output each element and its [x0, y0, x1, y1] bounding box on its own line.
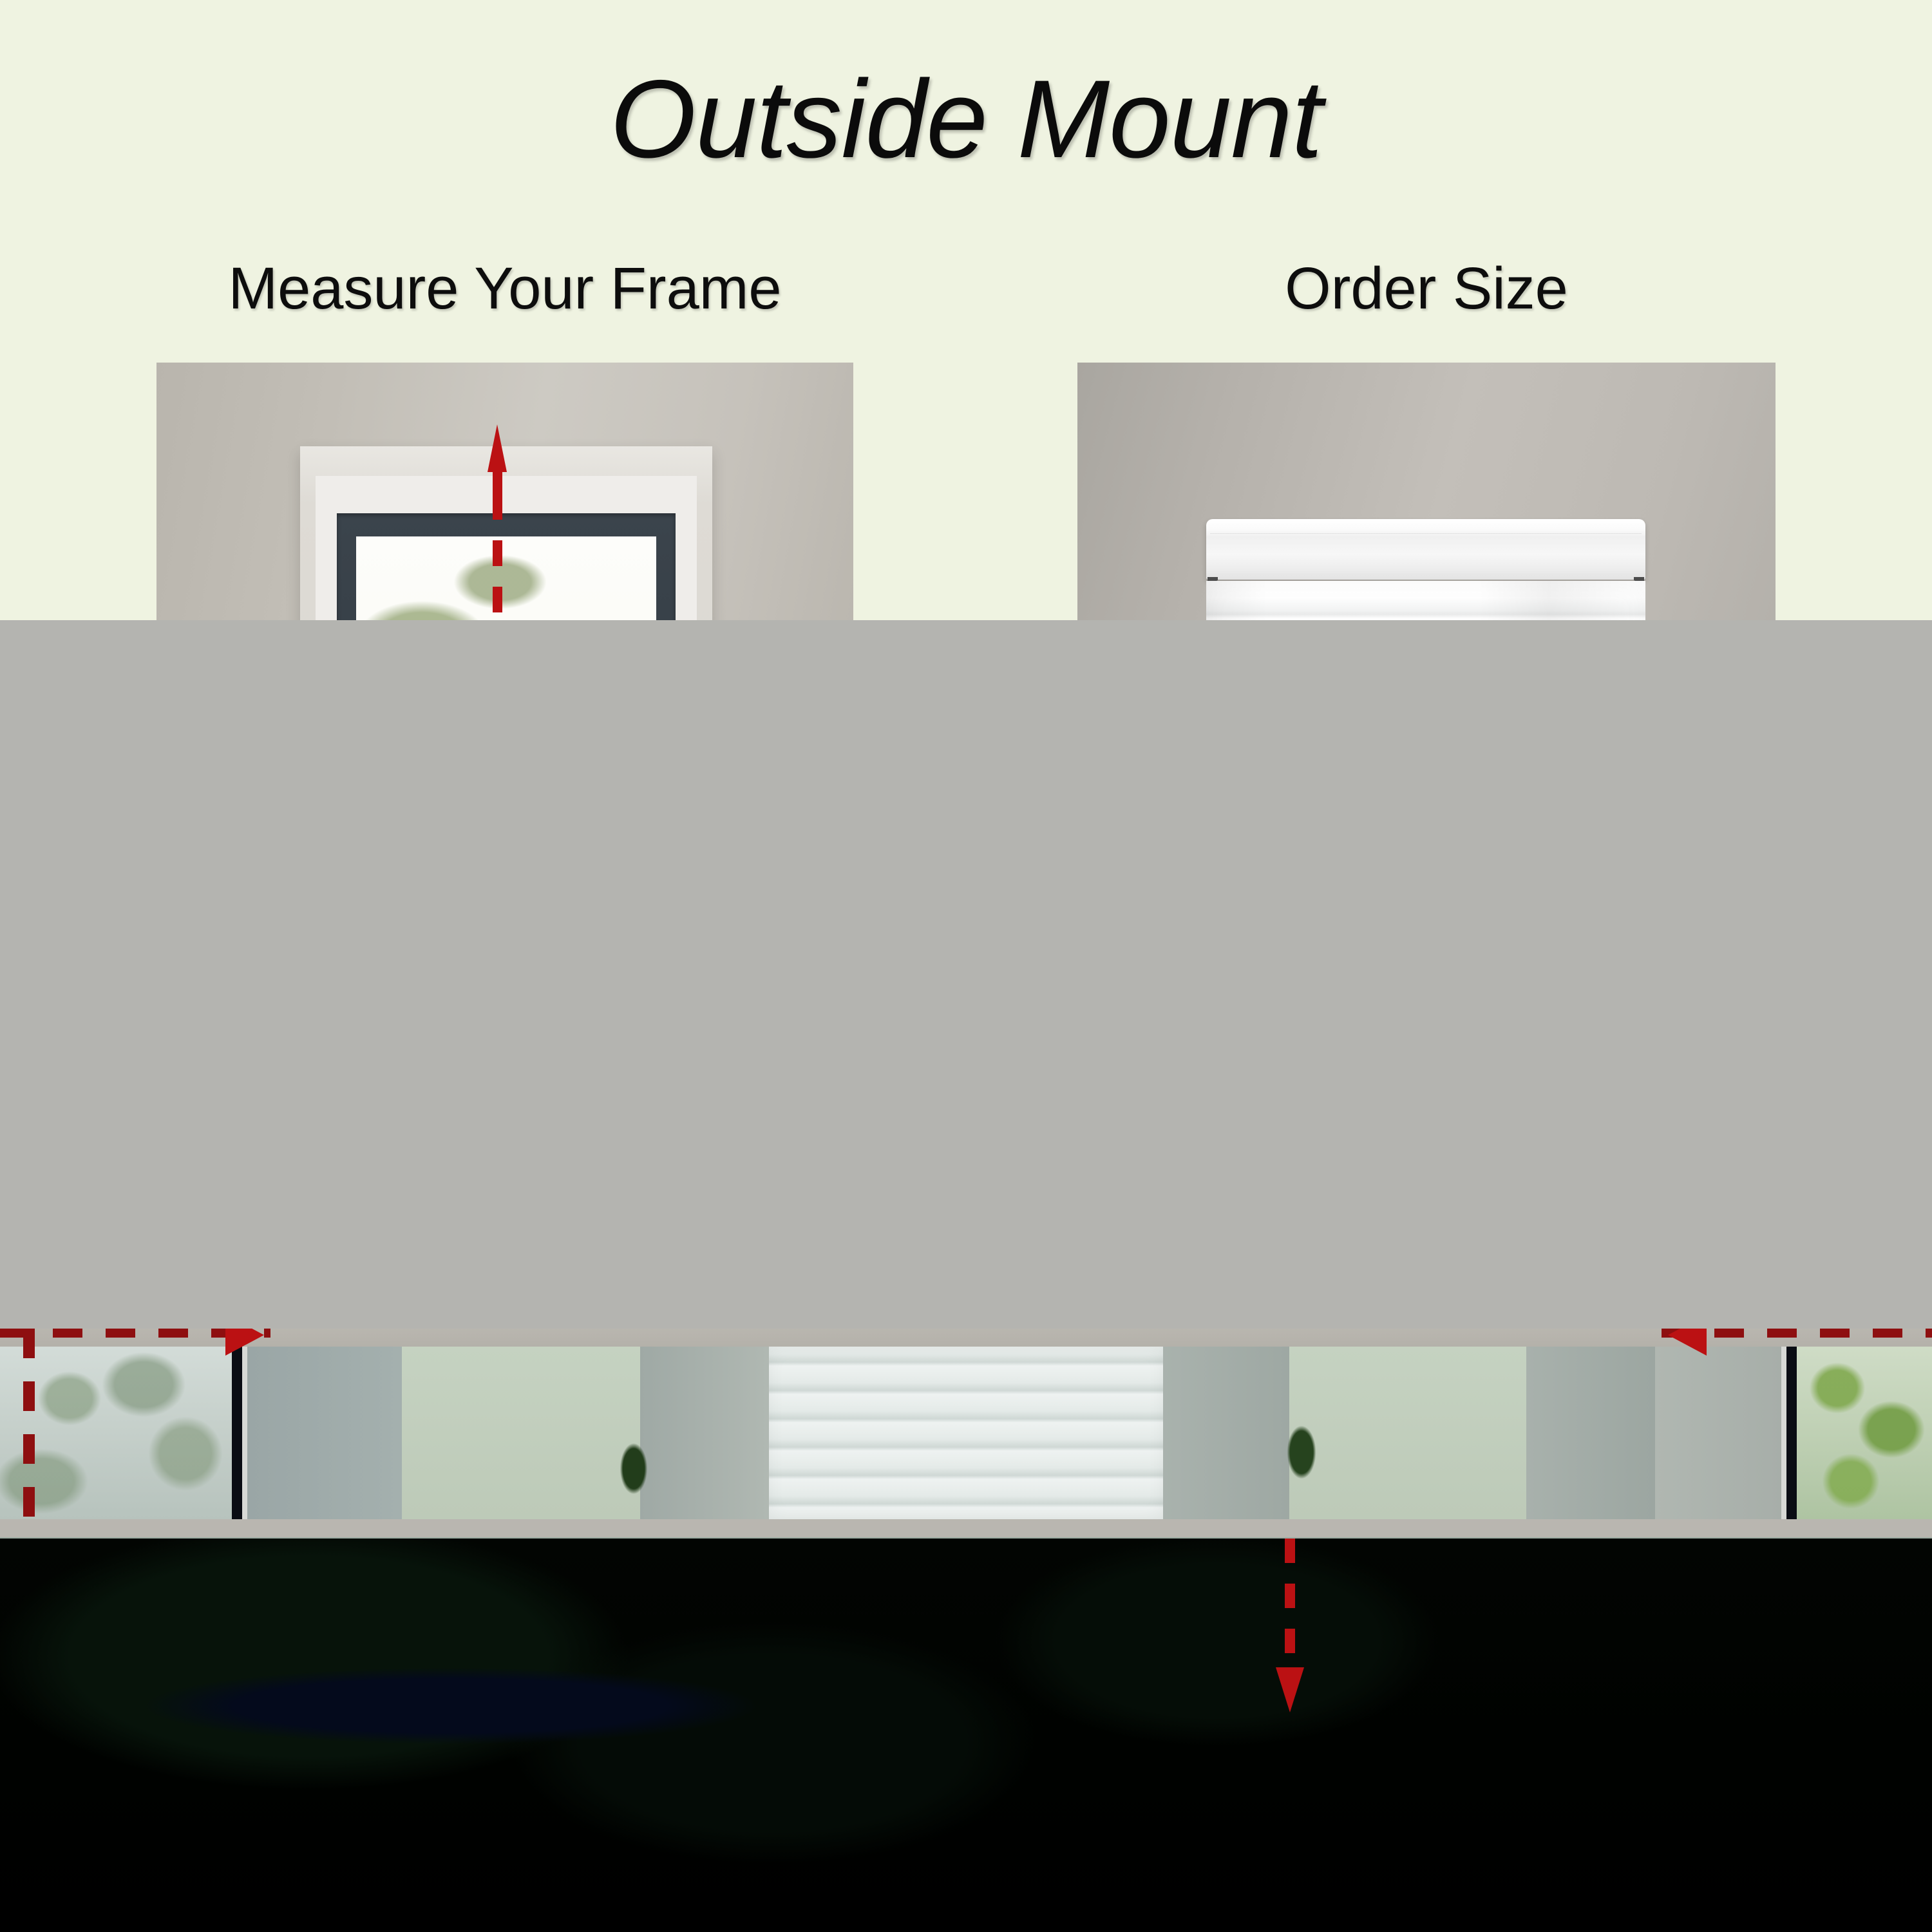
wall-segment-green-left: [402, 1347, 640, 1519]
wall-segment-c: [1163, 1347, 1289, 1519]
left-arrow-icon: [1668, 1329, 1707, 1356]
window-jamb-edge-right: [1781, 1347, 1786, 1519]
upper-wall-band: [0, 1329, 1932, 1347]
dark-navy-highlight: [97, 1667, 805, 1745]
wall-segment-b: [640, 1347, 769, 1519]
window-jamb-left: [232, 1347, 242, 1519]
wall-segment-green-right: [1289, 1347, 1526, 1519]
arrow-head: [1276, 1667, 1304, 1712]
poster-canvas: Outside Mount Measure Your Frame Order S…: [0, 0, 1932, 1932]
page-title: Outside Mount: [0, 61, 1932, 178]
wall-segment-a: [247, 1347, 402, 1519]
dashed-measure-line-icon: [23, 1329, 35, 1535]
wall-segment-e: [1655, 1347, 1781, 1519]
shade-headrail-icon: [1206, 519, 1645, 580]
plant-leaf-right: [1278, 1424, 1317, 1495]
window-jamb-right: [1786, 1347, 1797, 1519]
dashed-measure-line-icon: [1285, 1539, 1295, 1664]
window-jamb-edge-left: [242, 1347, 247, 1519]
column-caption-measure: Measure Your Frame: [156, 255, 853, 323]
interior-scene: [0, 1347, 1932, 1519]
window-right-view: [1797, 1347, 1932, 1519]
dark-foreground-region: [0, 1539, 1932, 1932]
wide-interior-photo: [0, 1329, 1932, 1539]
wall-segment-d: [1526, 1347, 1655, 1519]
down-arrow-icon: [1282, 1539, 1298, 1712]
arrow-head: [488, 424, 507, 472]
center-shade: [769, 1347, 1163, 1519]
gray-overlay-band: [0, 620, 1932, 1329]
column-caption-order: Order Size: [1077, 255, 1776, 323]
right-arrow-icon: [225, 1329, 264, 1356]
plant-leaf-left: [618, 1437, 657, 1508]
window-left-view: [0, 1347, 232, 1519]
